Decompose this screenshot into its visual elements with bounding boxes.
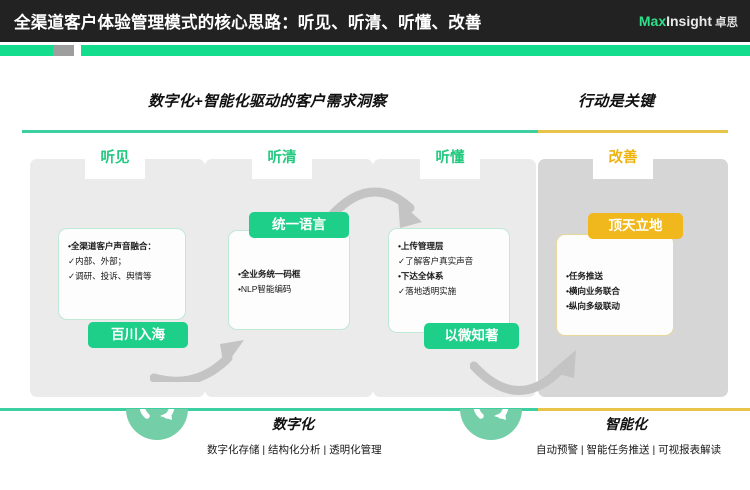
logo-max-text: Max [639,13,666,29]
badge-tongyiyuyan[interactable]: 统一语言 [249,212,349,238]
logo-insight-text: Insight [666,13,712,29]
cycle-arrow-icon [126,409,188,440]
badge-baichuanruhai[interactable]: 百川入海 [88,322,188,348]
accent-bar-green-large [81,45,750,56]
content-card-tingjian: •全渠道客户声音融合： ✓内部、外部； ✓调研、投诉、舆情等 [58,228,186,320]
content-card-tingdong: •上传管理层 ✓了解客户真实声音 •下达全体系 ✓落地透明实施 [388,228,510,333]
divider-rule-gold-top [538,130,728,133]
divider-rule-green-bottom [0,408,538,411]
card-line: •NLP智能编码 [238,282,340,297]
bottom-heading-digital: 数字化 [272,414,314,434]
badge-dingtianlidi[interactable]: 顶天立地 [588,213,683,239]
accent-bar-gray [53,45,74,56]
card-line: •全渠道客户声音融合： [68,239,176,254]
stage-label-tingjian: 听见 [80,146,150,167]
card-line: •上传管理层 [398,239,500,254]
section-heading-left: 数字化+智能化驱动的客户需求洞察 [148,90,387,111]
content-card-gaishan: •任务推送 •横向业务联合 •纵向多级联动 [556,234,674,336]
slide-canvas: 全渠道客户体验管理模式的核心思路：听见、听清、听懂、改善 MaxInsight卓… [0,0,750,490]
card-line: •任务推送 [566,269,664,284]
stage-label-gaishan: 改善 [588,146,658,167]
card-line: ✓了解客户真实声音 [398,254,500,269]
divider-rule-gold-bottom [538,408,750,411]
page-title: 全渠道客户体验管理模式的核心思路：听见、听清、听懂、改善 [14,9,482,33]
bottom-heading-intelligent: 智能化 [605,414,647,434]
accent-bar-green-small [0,45,53,56]
card-line: •下达全体系 [398,269,500,284]
logo-chinese-text: 卓思 [715,17,738,29]
bottom-subtitle-digital: 数字化存储 | 结构化分析 | 透明化管理 [207,442,382,457]
stage-label-tingqing: 听清 [247,146,317,167]
cycle-arrow-icon [460,409,522,440]
card-line: ✓内部、外部； [68,254,176,269]
card-line: •全业务统一码框 [238,267,340,282]
card-line: ✓调研、投诉、舆情等 [68,269,176,284]
bottom-subtitle-intelligent: 自动预警 | 智能任务推送 | 可视报表解读 [536,442,721,457]
badge-yiweizhizhu[interactable]: 以微知著 [424,323,519,349]
card-line: •纵向多级联动 [566,299,664,314]
brand-logo: MaxInsight卓思 [639,13,738,30]
content-card-tingqing: •全业务统一码框 •NLP智能编码 [228,230,350,330]
card-line: •横向业务联合 [566,284,664,299]
card-line: ✓落地透明实施 [398,284,500,299]
stage-label-tingdong: 听懂 [415,146,485,167]
section-heading-right: 行动是关键 [578,90,655,111]
divider-rule-green-top [22,130,538,133]
